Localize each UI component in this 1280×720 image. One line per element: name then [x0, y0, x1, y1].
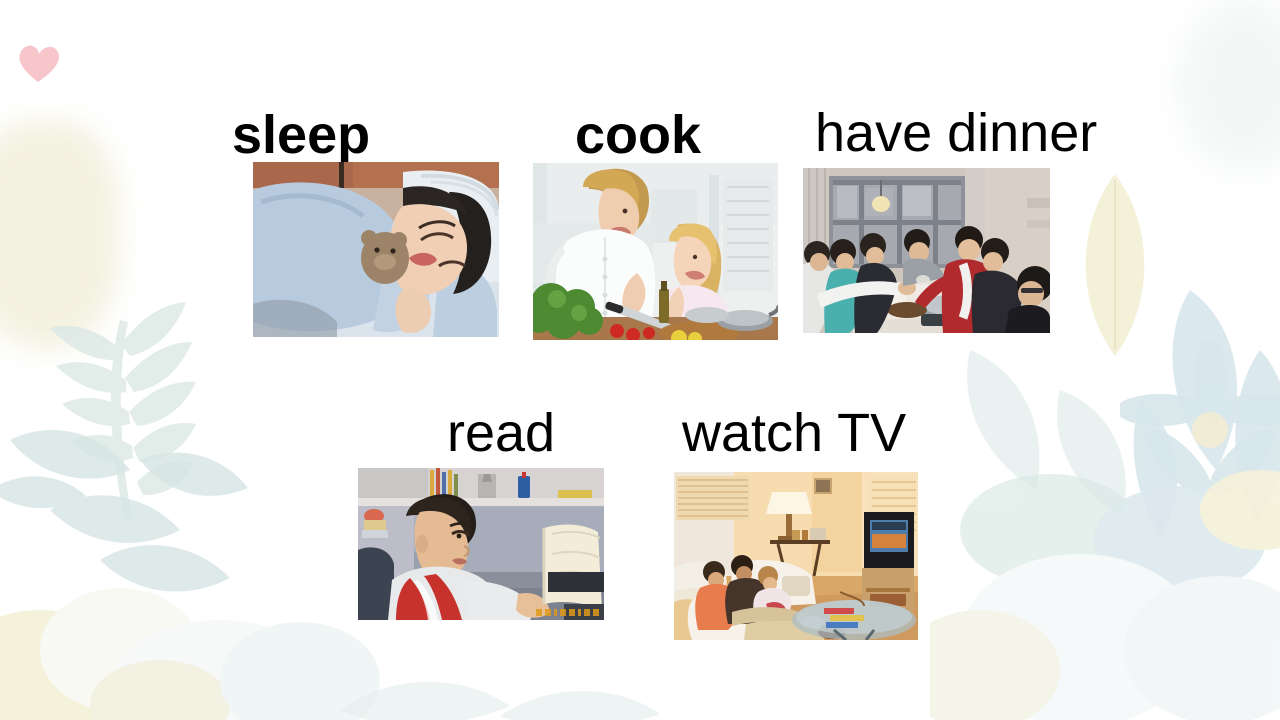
- photo-sleeping-child: [253, 162, 499, 337]
- slide-canvas: sleep: [0, 0, 1280, 720]
- heart-icon: [14, 40, 62, 84]
- flower-cluster-bottom-right: [930, 470, 1280, 720]
- leaf-cluster-right: [1130, 280, 1280, 540]
- pale-blob-top-right: [1180, 0, 1280, 170]
- vocab-label-read: read: [447, 406, 555, 460]
- cream-blob-left: [0, 120, 120, 350]
- vocab-photo-cook[interactable]: [533, 163, 778, 340]
- leaf-cluster-mid-right: [940, 330, 1160, 530]
- photo-family-dinner: [803, 168, 1050, 333]
- vocab-label-have-dinner: have dinner: [815, 106, 1097, 160]
- photo-mother-and-daughter-cooking: [533, 163, 778, 340]
- fern-leaf-left: [10, 200, 250, 530]
- vocab-photo-read[interactable]: [358, 468, 604, 620]
- flower-right-middle: [1120, 340, 1280, 520]
- leaf-cluster-bottom-center: [330, 620, 690, 720]
- photo-family-watching-tv: [674, 472, 918, 640]
- vocab-photo-watch-tv[interactable]: [674, 472, 918, 640]
- vocab-label-sleep: sleep: [232, 108, 370, 162]
- flower-cluster-bottom-left: [0, 530, 390, 720]
- cream-leaf-right: [1060, 170, 1170, 360]
- vocab-label-watch-tv: watch TV: [682, 406, 906, 460]
- photo-boy-reading: [358, 468, 604, 620]
- vocab-label-cook: cook: [575, 108, 701, 162]
- vocab-photo-have-dinner[interactable]: [803, 168, 1050, 333]
- vocab-photo-sleep[interactable]: [253, 162, 499, 337]
- leaf-cluster-lower-left: [0, 400, 320, 620]
